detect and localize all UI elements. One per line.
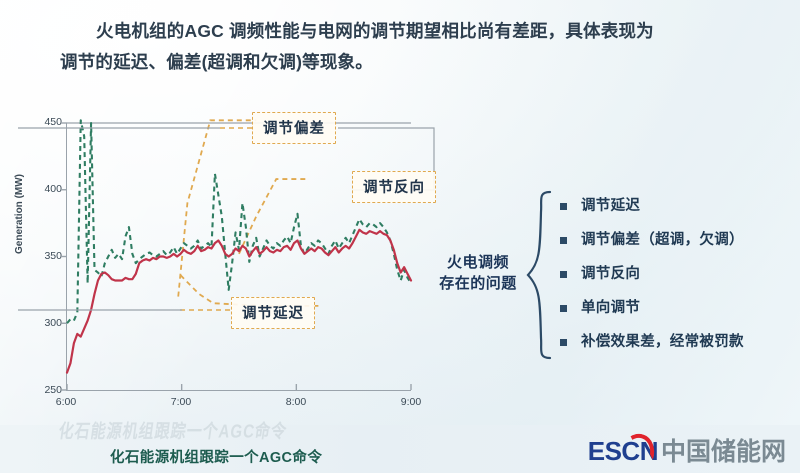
generation-chart: Generation (MW) 450 400 350 300 250: [18, 104, 438, 414]
bullet-text: 补偿效果差，经常被罚款: [581, 332, 744, 352]
y-tick-400: 400: [26, 183, 62, 195]
bullet-text: 调节偏差（超调，欠调）: [581, 230, 744, 250]
figure-caption: 化石能源机组跟踪一个AGC命令: [110, 446, 322, 467]
watermark: ESCN 中国储能网: [588, 438, 786, 465]
plot-area: [66, 123, 411, 391]
list-item: 调节反向: [560, 264, 800, 284]
y-tick-250: 250: [26, 384, 62, 396]
list-item: 调节偏差（超调，欠调）: [560, 230, 800, 250]
x-tick-6: 6:00: [56, 396, 76, 408]
list-item: 调节延迟: [560, 196, 800, 216]
bullet-square-icon: [560, 339, 567, 346]
list-item: 单向调节: [560, 298, 800, 318]
list-item: 补偿效果差，经常被罚款: [560, 332, 800, 352]
headline-line-1: 火电机组的AGC 调频性能与电网的调节期望相比尚有差距，具体表现为: [96, 21, 654, 41]
brace-label: 火电调频 存在的问题: [432, 252, 524, 294]
bias-guide: [178, 120, 256, 296]
headline-line-2: 调节的延迟、偏差(超调和欠调)等现象。: [60, 47, 776, 78]
y-tick-450: 450: [26, 116, 62, 128]
brace-label-line-1: 火电调频: [432, 252, 524, 273]
watermark-brand: ESCN: [588, 438, 658, 464]
problem-bullet-list: 调节延迟 调节偏差（超调，欠调） 调节反向 单向调节 补偿效果差，经常被罚款: [560, 196, 800, 366]
bullet-square-icon: [560, 203, 567, 210]
x-tick-7: 7:00: [171, 396, 191, 408]
y-tick-350: 350: [26, 250, 62, 262]
curly-brace-icon: [524, 190, 554, 360]
callout-adjust-reverse[interactable]: 调节反向: [352, 171, 436, 203]
y-axis-ticks: 450 400 350 300 250: [18, 104, 62, 414]
bullet-text: 调节延迟: [581, 196, 640, 216]
brace-label-line-2: 存在的问题: [432, 273, 524, 294]
x-tick-8: 8:00: [286, 396, 306, 408]
axis-ticks-marks: [61, 123, 411, 390]
callout-adjust-delay[interactable]: 调节延迟: [231, 297, 315, 329]
bullet-square-icon: [560, 305, 567, 312]
bullet-square-icon: [560, 271, 567, 278]
bullet-square-icon: [560, 237, 567, 244]
bullet-text: 单向调节: [581, 298, 640, 318]
plot-svg: [67, 123, 411, 390]
callout-adjust-bias[interactable]: 调节偏差: [252, 112, 336, 144]
slide-canvas: 火电机组的AGC 调频性能与电网的调节期望相比尚有差距，具体表现为 调节的延迟、…: [0, 0, 800, 473]
y-tick-300: 300: [26, 317, 62, 329]
bullet-text: 调节反向: [581, 264, 640, 284]
series-agc-command: [67, 120, 411, 323]
watermark-brand-cn: 中国储能网: [661, 440, 786, 465]
page-title: 火电机组的AGC 调频性能与电网的调节期望相比尚有差距，具体表现为 调节的延迟、…: [96, 16, 776, 78]
x-tick-9: 9:00: [401, 396, 421, 408]
